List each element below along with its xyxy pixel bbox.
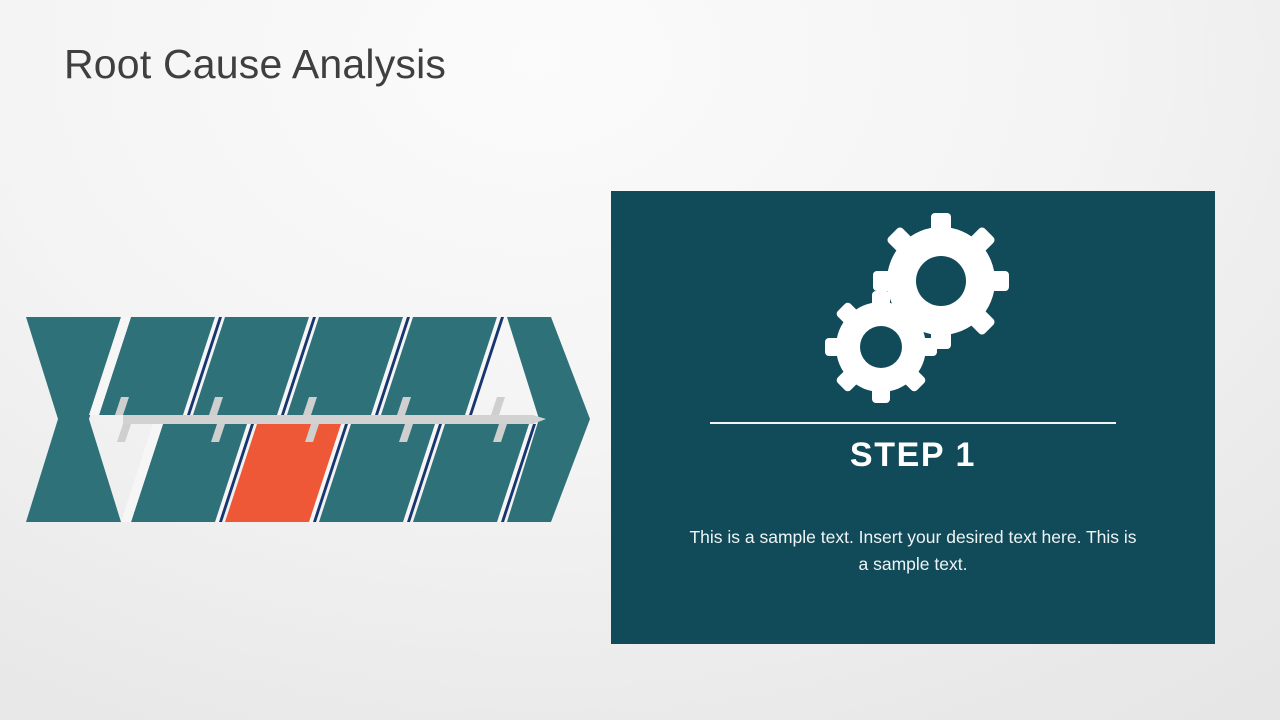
chevron-diagram-svg [18,315,598,525]
gear-small-icon [825,291,937,403]
slide-canvas: Root Cause Analysis [0,0,1280,720]
fishbone-joint-2b [117,424,131,442]
step-label: STEP 1 [611,436,1215,475]
two-gears-icon [611,207,1215,407]
panel-divider [710,422,1116,424]
fishbone-joint-6 [491,397,505,415]
chevron-segment-1[interactable] [26,317,121,522]
fishbone-spine [123,415,546,424]
step-panel[interactable]: STEP 1 This is a sample text. Insert you… [611,191,1215,644]
panel-body-text: This is a sample text. Insert your desir… [689,524,1137,578]
two-gears-svg [803,207,1023,407]
root-cause-chevron-diagram[interactable] [18,315,598,525]
page-title: Root Cause Analysis [64,41,446,88]
